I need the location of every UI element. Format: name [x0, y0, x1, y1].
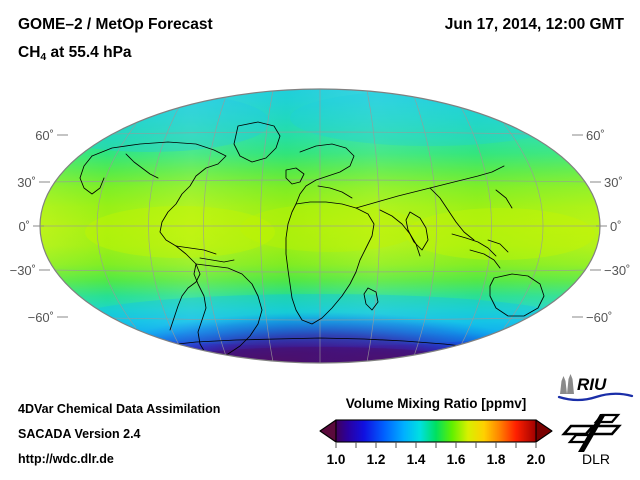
colorbar-low-cap: [320, 420, 336, 442]
lat-label-right-minus60: −60˚: [586, 310, 612, 325]
colorbar: Volume Mixing Ratio [ppmv]: [318, 396, 554, 468]
mollweide-map: 60˚ 30˚ 0˚ −30˚ −60˚ 60˚ 30˚ 0˚ −30˚ −60…: [0, 82, 640, 382]
footer-line-method: 4DVar Chemical Data Assimilation: [18, 402, 220, 416]
cooling-tower-icon: [560, 374, 574, 394]
riu-logo: RIU: [556, 372, 634, 402]
footer-line-url: http://wdc.dlr.de: [18, 452, 114, 466]
riu-wordmark: RIU: [577, 375, 607, 394]
map-canvas: 60˚ 30˚ 0˚ −30˚ −60˚ 60˚ 30˚ 0˚ −30˚ −60…: [0, 82, 640, 382]
lat-label-right-0: 0˚: [610, 219, 622, 234]
lat-label-left-0: 0˚: [18, 219, 30, 234]
forecast-timestamp: Jun 17, 2014, 12:00 GMT: [445, 16, 624, 34]
colorbar-tick-4: 1.6: [447, 452, 466, 467]
colorbar-canvas: 1.0 1.2 1.4 1.6 1.8 2.0: [318, 418, 554, 468]
species-subtitle: CH4 at 55.4 hPa: [18, 44, 132, 63]
dlr-logo-graphic: DLR: [560, 410, 632, 466]
lat-label-left-minus30: −30˚: [10, 263, 36, 278]
species-level-text: at 55.4 hPa: [46, 44, 131, 61]
dlr-wordmark: DLR: [582, 451, 610, 466]
species-prefix-text: CH: [18, 44, 40, 61]
colorbar-tick-1: 1.0: [327, 452, 346, 467]
riu-logo-graphic: RIU: [556, 372, 634, 402]
dlr-mark-icon: [564, 414, 619, 452]
lat-label-left-minus60: −60˚: [28, 310, 54, 325]
page-title: GOME–2 / MetOp Forecast: [18, 16, 213, 34]
footer-line-version: SACADA Version 2.4: [18, 427, 141, 441]
dlr-logo: DLR: [560, 410, 632, 466]
colorbar-tick-6: 2.0: [527, 452, 546, 467]
lat-label-right-60: 60˚: [586, 128, 605, 143]
colorbar-title: Volume Mixing Ratio [ppmv]: [318, 396, 554, 411]
lat-label-right-minus30: −30˚: [604, 263, 630, 278]
pole-convergence-streaks: [140, 363, 505, 377]
instrument-title-text: GOME–2 / MetOp Forecast: [18, 16, 213, 33]
lat-label-right-30: 30˚: [604, 175, 623, 190]
riu-wave-icon: [559, 394, 632, 400]
colorbar-minor-ticks: [336, 442, 536, 448]
lat-label-left-60: 60˚: [35, 128, 54, 143]
colorbar-tick-3: 1.4: [407, 452, 426, 467]
forecast-timestamp-text: Jun 17, 2014, 12:00 GMT: [445, 16, 624, 33]
colorbar-tick-2: 1.2: [367, 452, 386, 467]
colorbar-gradient: [336, 420, 536, 442]
colorbar-high-cap: [536, 420, 552, 442]
lat-label-left-30: 30˚: [17, 175, 36, 190]
colorbar-tick-5: 1.8: [487, 452, 506, 467]
